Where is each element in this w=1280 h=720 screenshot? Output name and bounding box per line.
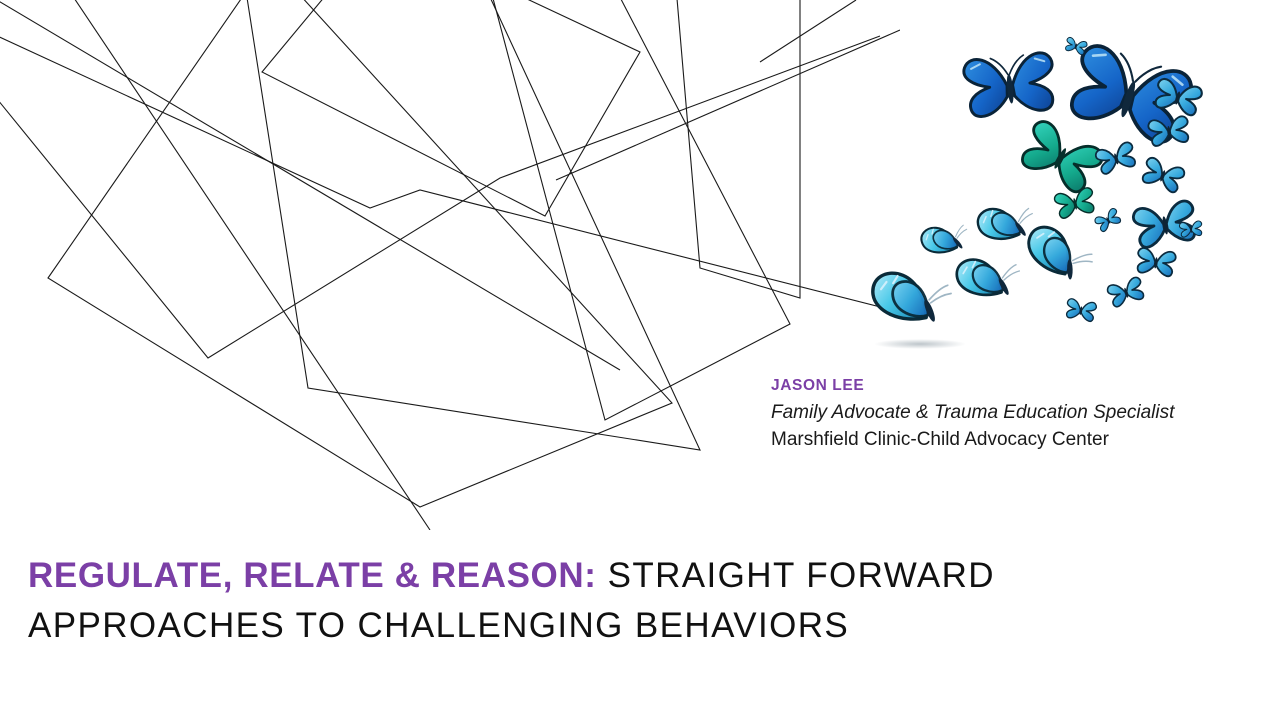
abstract-line-art-decoration bbox=[0, 0, 900, 530]
butterfly bbox=[1136, 247, 1177, 277]
butterfly bbox=[1179, 221, 1203, 238]
butterfly bbox=[1023, 224, 1098, 284]
lineart-shape-4 bbox=[478, 0, 790, 420]
butterfly-shadow bbox=[874, 339, 966, 349]
butterfly bbox=[1094, 207, 1123, 233]
butterfly bbox=[974, 195, 1039, 251]
butterfly bbox=[1094, 141, 1137, 175]
slide-title-accent: REGULATE, RELATE & REASON: bbox=[28, 556, 596, 595]
lineart-shape-1 bbox=[48, 0, 672, 507]
blue-butterfly-cluster bbox=[868, 28, 1212, 362]
lineart-shape-6 bbox=[0, 28, 900, 312]
butterfly bbox=[963, 52, 1057, 118]
lineart-line-11 bbox=[556, 30, 900, 180]
lineart-line-9 bbox=[62, 0, 430, 530]
butterfly bbox=[1132, 200, 1198, 249]
lineart-shape-2 bbox=[238, 0, 700, 450]
butterfly bbox=[1016, 118, 1105, 197]
lineart-line-8 bbox=[0, 0, 620, 370]
presenter-name: JASON LEE bbox=[771, 375, 1271, 397]
butterfly bbox=[1106, 276, 1146, 308]
butterfly bbox=[918, 214, 974, 263]
butterfly bbox=[1153, 78, 1203, 117]
butterfly bbox=[1064, 37, 1088, 56]
presenter-organization: Marshfield Clinic-Child Advocacy Center bbox=[771, 427, 1271, 454]
lineart-shape-5 bbox=[672, 0, 800, 298]
butterfly bbox=[1054, 187, 1097, 220]
lineart-shape-7 bbox=[0, 36, 880, 358]
butterfly bbox=[870, 265, 954, 330]
butterfly bbox=[954, 249, 1025, 306]
lineart-line-10 bbox=[760, 0, 856, 62]
lineart-shape-3 bbox=[262, 0, 640, 216]
presenter-block: JASON LEE Family Advocate & Trauma Educa… bbox=[771, 375, 1271, 454]
butterfly bbox=[1140, 156, 1186, 194]
butterfly bbox=[1065, 42, 1195, 147]
butterfly bbox=[1065, 298, 1097, 322]
title-slide: JASON LEE Family Advocate & Trauma Educa… bbox=[0, 0, 1280, 720]
slide-title: REGULATE, RELATE & REASON: STRAIGHT FORW… bbox=[28, 551, 1208, 650]
presenter-role: Family Advocate & Trauma Education Speci… bbox=[771, 400, 1271, 427]
butterfly bbox=[1148, 116, 1191, 147]
